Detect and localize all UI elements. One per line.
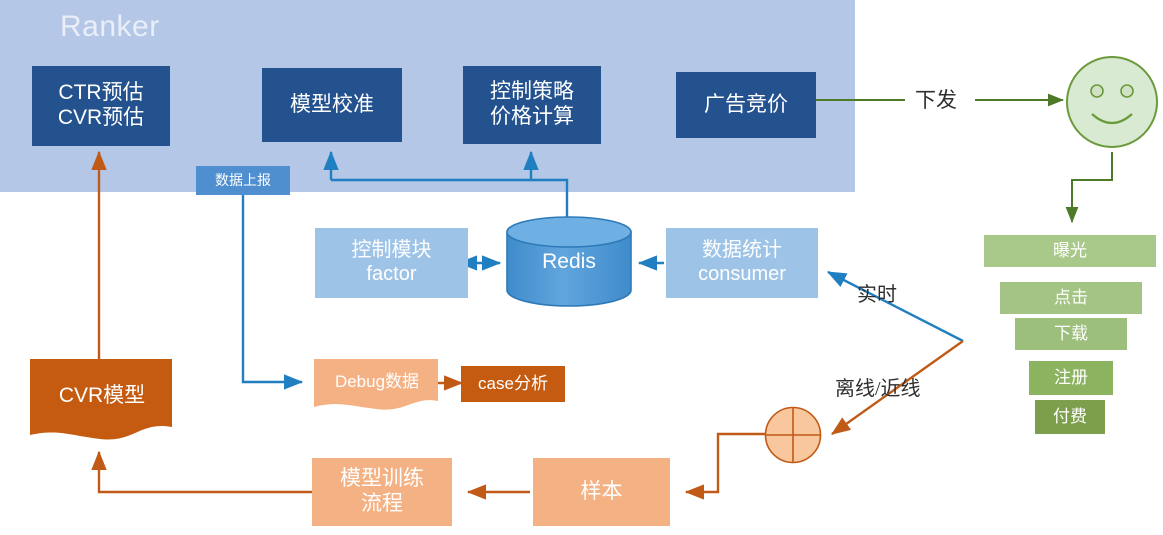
node-redis-label: Redis xyxy=(505,236,633,288)
node-data-stat-consumer[interactable]: 数据统计 consumer xyxy=(666,228,818,298)
node-cvr-model-label: CVR模型 xyxy=(30,366,174,426)
node-sample[interactable]: 样本 xyxy=(533,458,670,526)
edge-training-to-cvrmodel xyxy=(99,452,312,492)
node-control-policy-price[interactable]: 控制策略 价格计算 xyxy=(463,66,601,144)
node-case-analysis[interactable]: case分析 xyxy=(461,366,565,402)
funnel-stage-0[interactable]: 曝光 xyxy=(984,235,1156,267)
edge-label-offline-nearline: 离线/近线 xyxy=(835,372,921,401)
funnel-stage-3[interactable]: 注册 xyxy=(1029,361,1113,395)
node-ctr-cvr-predict[interactable]: CTR预估 CVR预估 xyxy=(32,66,170,146)
node-model-training-flow[interactable]: 模型训练 流程 xyxy=(312,458,452,526)
funnel-stage-2[interactable]: 下载 xyxy=(1015,318,1127,350)
edge-junction-to-sample xyxy=(686,434,765,492)
funnel-stage-1[interactable]: 点击 xyxy=(1000,282,1142,314)
node-debug-data-label: Debug数据 xyxy=(314,363,440,401)
node-ad-bidding[interactable]: 广告竞价 xyxy=(676,72,816,138)
node-data-report[interactable]: 数据上报 xyxy=(196,166,290,195)
edge-user-to-funnel xyxy=(1072,152,1112,222)
funnel-stage-4[interactable]: 付费 xyxy=(1035,400,1105,434)
summing-junction-node[interactable] xyxy=(764,406,822,464)
edge-label-deliver: 下发 xyxy=(915,84,957,114)
edge-label-realtime: 实时 xyxy=(857,278,897,307)
edge-datareport-to-debug xyxy=(243,195,302,382)
node-model-calibration[interactable]: 模型校准 xyxy=(262,68,402,142)
node-control-module-factor[interactable]: 控制模块 factor xyxy=(315,228,468,298)
ranker-group-label: Ranker xyxy=(60,10,160,44)
diagram-canvas: Ranker xyxy=(0,0,1163,535)
smiley-face-icon xyxy=(1064,52,1160,152)
